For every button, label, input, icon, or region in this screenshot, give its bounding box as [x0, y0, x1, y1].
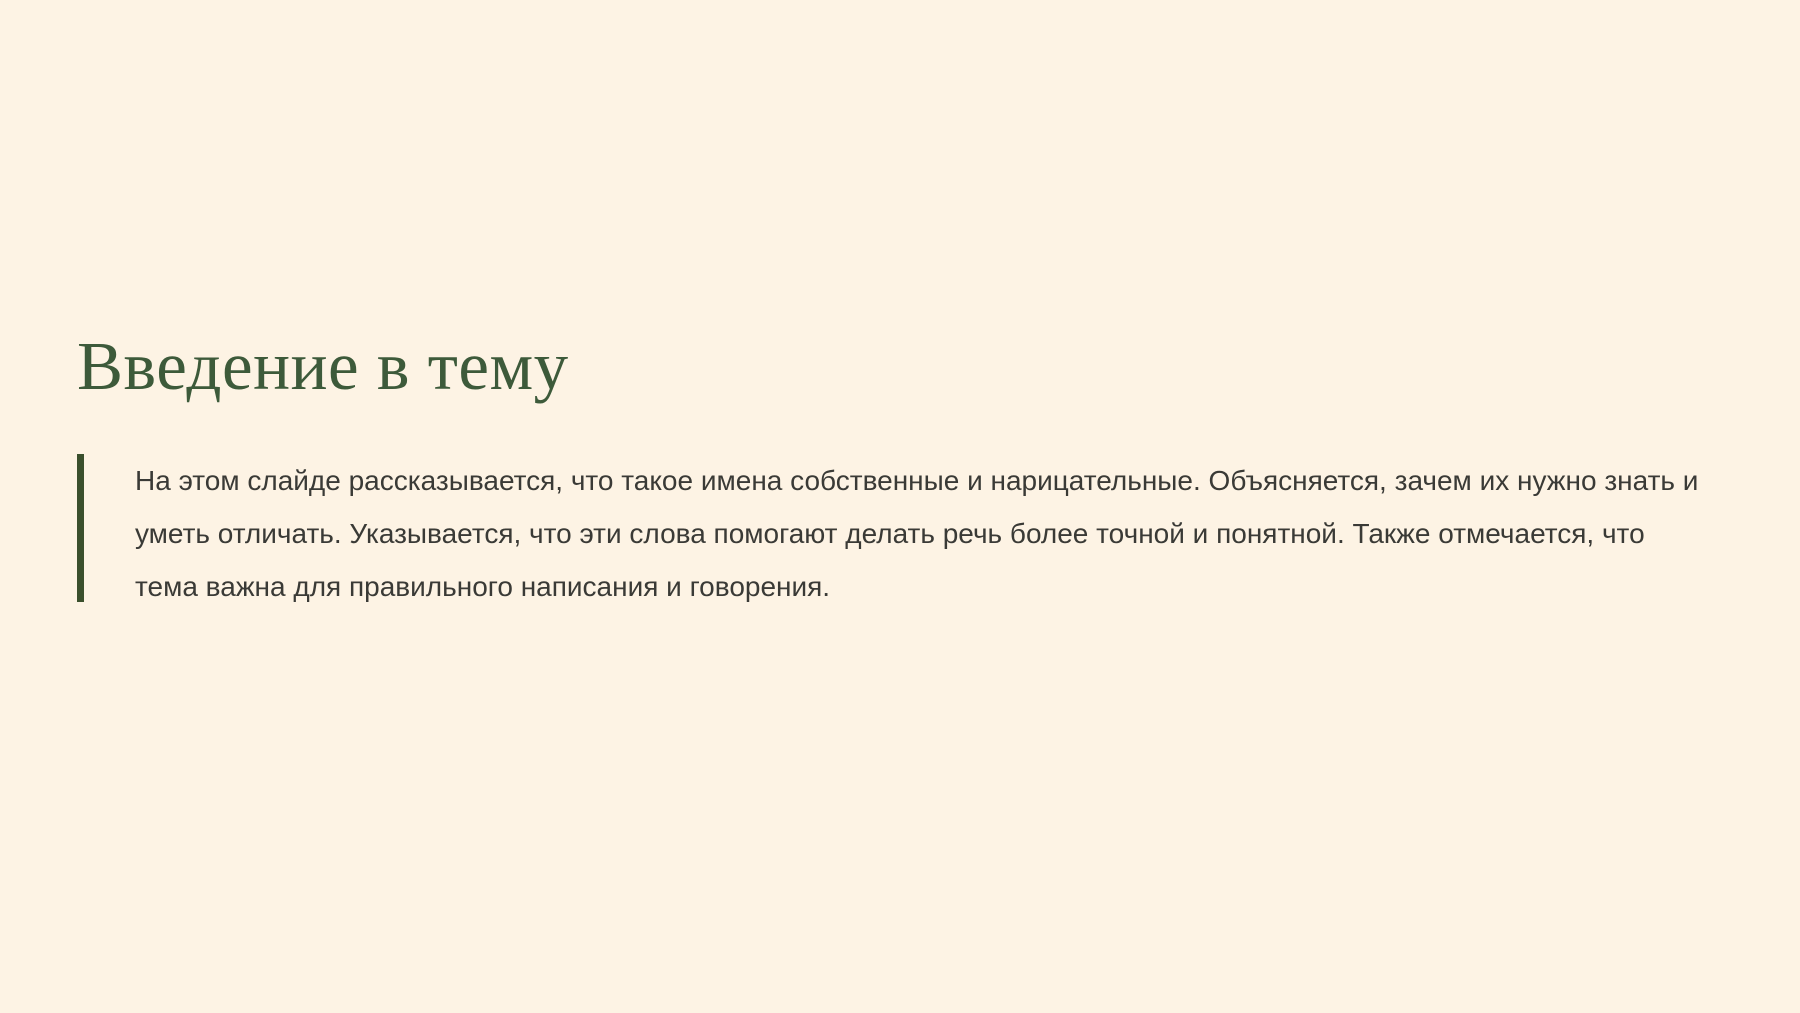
body-paragraph: На этом слайде рассказывается, что такое…: [135, 454, 1715, 613]
page-title: Введение в тему: [77, 330, 1717, 402]
accent-bar: [77, 454, 84, 602]
presentation-slide: Введение в тему На этом слайде рассказыв…: [0, 0, 1800, 1013]
slide-content: Введение в тему На этом слайде рассказыв…: [77, 330, 1717, 613]
body-callout-block: На этом слайде рассказывается, что такое…: [77, 454, 1717, 613]
